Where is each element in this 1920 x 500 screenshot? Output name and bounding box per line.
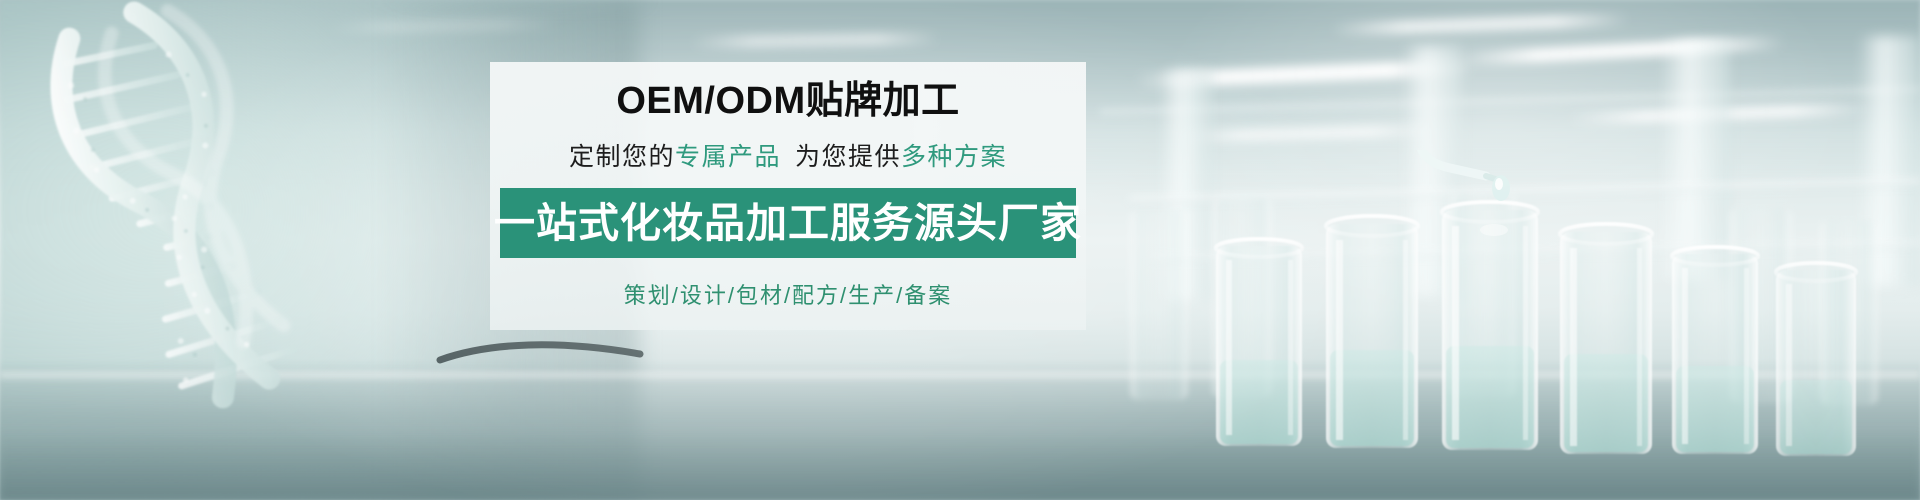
subtitle: 定制您的专属产品为您提供多种方案 [490, 142, 1086, 172]
subtitle-part2: 为您提供 [795, 143, 901, 171]
subtitle-part1: 定制您的 [569, 143, 675, 171]
page-title: OEM/ODM贴牌加工 [490, 81, 1086, 123]
test-tubes-icon [1120, 150, 1920, 500]
hero-banner: OEM/ODM贴牌加工 定制您的专属产品为您提供多种方案 一站式化妆品加工服务源… [0, 0, 1920, 500]
dna-helix-icon [20, 0, 450, 410]
highlight-bar: 一站式化妆品加工服务源头厂家 [500, 188, 1076, 258]
highlight-bar-text: 一站式化妆品加工服务源头厂家 [494, 203, 1082, 244]
subtitle-highlight2: 多种方案 [901, 143, 1007, 171]
content-panel: OEM/ODM贴牌加工 定制您的专属产品为您提供多种方案 一站式化妆品加工服务源… [490, 62, 1086, 330]
service-tagline: 策划/设计/包材/配方/生产/备案 [490, 278, 1086, 310]
lab-rod [430, 330, 690, 390]
subtitle-highlight1: 专属产品 [675, 143, 781, 171]
